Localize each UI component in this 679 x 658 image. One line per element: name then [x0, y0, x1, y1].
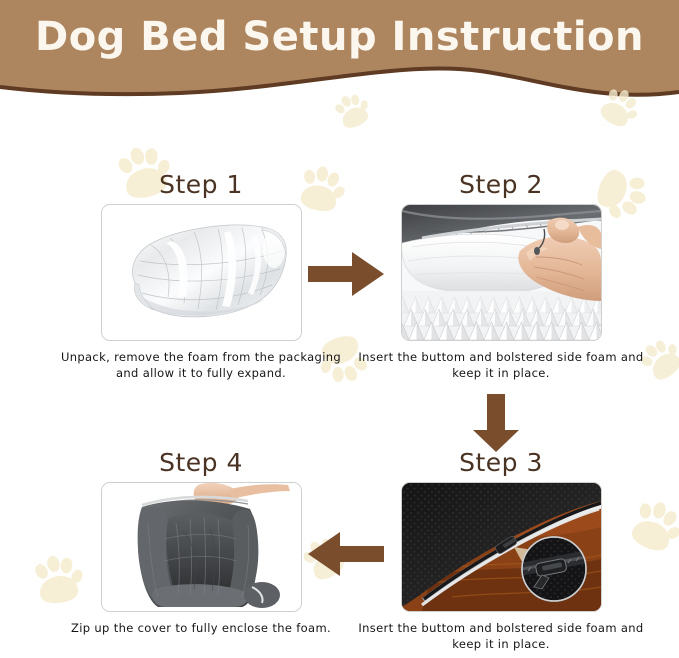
step-2-caption: Insert the buttom and bolstered side foa…	[356, 349, 646, 382]
step-4-photo	[101, 482, 302, 612]
arrow-step3-to-step4	[306, 528, 386, 585]
step-1-block: Step 1	[56, 172, 346, 382]
foam-insertion-illustration	[402, 205, 601, 340]
step-4-caption: Zip up the cover to fully enclose the fo…	[56, 620, 346, 636]
arrow-left-icon	[306, 528, 386, 580]
step-2-block: Step 2	[356, 172, 646, 382]
instruction-infographic: Dog Bed Setup Instruction	[0, 0, 679, 658]
step-4-label: Step 4	[56, 450, 346, 475]
step-3-caption: Insert the buttom and bolstered side foa…	[356, 620, 646, 653]
arrow-step1-to-step2	[306, 248, 386, 305]
packaged-foam-illustration	[102, 205, 301, 340]
step-1-caption: Unpack, remove the foam from the packagi…	[56, 349, 346, 382]
header-banner: Dog Bed Setup Instruction	[0, 0, 679, 118]
step-1-label: Step 1	[56, 172, 346, 197]
cover-zip-illustration	[102, 483, 301, 611]
page-title: Dog Bed Setup Instruction	[0, 14, 679, 60]
step-1-photo	[101, 204, 302, 341]
step-2-photo	[401, 204, 602, 341]
step-3-photo	[401, 482, 602, 612]
arrow-down-icon	[470, 392, 522, 454]
zipper-closeup-illustration	[402, 483, 601, 611]
step-4-block: Step 4	[56, 450, 346, 636]
arrow-right-icon	[306, 248, 386, 300]
step-3-block: Step 3	[356, 450, 646, 653]
step-2-label: Step 2	[356, 172, 646, 197]
arrow-step2-to-step3	[470, 392, 522, 459]
